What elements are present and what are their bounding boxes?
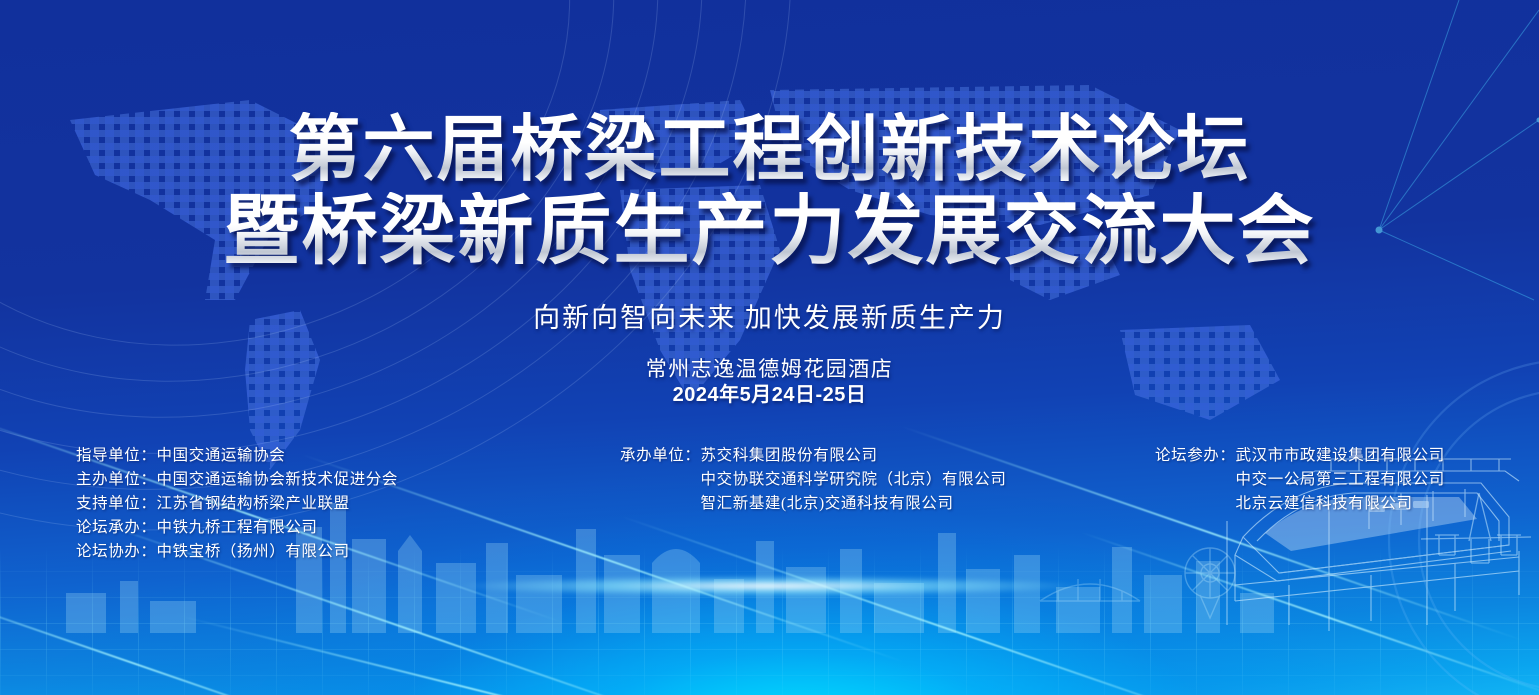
organizations-column-left: 指导单位： 中国交通运输协会 主办单位： 中国交通运输协会新技术促进分会 支持单… (76, 444, 398, 564)
title-line-1: 第六届桥梁工程创新技术论坛 (0, 112, 1539, 188)
banner-content: 第六届桥梁工程创新技术论坛 暨桥梁新质生产力发展交流大会 向新向智向未来 加快发… (0, 0, 1539, 695)
organization-label: 主办单位： (76, 468, 157, 492)
organization-value: 北京云建信科技有限公司 (1236, 492, 1413, 516)
organization-row: 论坛参办： 武汉市市政建设集团有限公司 (1155, 444, 1445, 468)
organization-label: 承办单位： (620, 444, 701, 468)
organization-row: 论坛参办： 中交一公局第三工程有限公司 (1155, 468, 1445, 492)
organization-value: 中交协联交通科学研究院（北京）有限公司 (701, 468, 1007, 492)
organization-row: 主办单位： 中国交通运输协会新技术促进分会 (76, 468, 398, 492)
main-title: 第六届桥梁工程创新技术论坛 暨桥梁新质生产力发展交流大会 (0, 112, 1539, 273)
organization-label: 论坛参办： (1155, 444, 1236, 468)
organization-value: 江苏省钢结构桥梁产业联盟 (157, 492, 350, 516)
organization-value: 中国交通运输协会新技术促进分会 (157, 468, 399, 492)
organization-value: 中铁宝桥（扬州）有限公司 (157, 540, 350, 564)
organization-value: 中国交通运输协会 (157, 444, 286, 468)
organization-label: 指导单位： (76, 444, 157, 468)
organization-label: 论坛承办： (76, 516, 157, 540)
organization-row: 指导单位： 中国交通运输协会 (76, 444, 398, 468)
organization-row: 承办单位： 中交协联交通科学研究院（北京）有限公司 (620, 468, 1006, 492)
title-line-2: 暨桥梁新质生产力发展交流大会 (0, 192, 1539, 273)
organizations-section: 指导单位： 中国交通运输协会 主办单位： 中国交通运输协会新技术促进分会 支持单… (0, 444, 1539, 574)
conference-banner: 第六届桥梁工程创新技术论坛 暨桥梁新质生产力发展交流大会 向新向智向未来 加快发… (0, 0, 1539, 695)
organization-label: 支持单位： (76, 492, 157, 516)
organization-value: 苏交科集团股份有限公司 (701, 444, 878, 468)
organization-row: 论坛参办： 北京云建信科技有限公司 (1155, 492, 1445, 516)
organization-value: 武汉市市政建设集团有限公司 (1236, 444, 1445, 468)
organization-row: 支持单位： 江苏省钢结构桥梁产业联盟 (76, 492, 398, 516)
organization-value: 中交一公局第三工程有限公司 (1236, 468, 1445, 492)
organization-value: 智汇新基建(北京)交通科技有限公司 (701, 492, 954, 516)
organizations-column-middle: 承办单位： 苏交科集团股份有限公司 承办单位： 中交协联交通科学研究院（北京）有… (620, 444, 1006, 516)
slogan: 向新向智向未来 加快发展新质生产力 (0, 296, 1539, 335)
organization-row: 承办单位： 智汇新基建(北京)交通科技有限公司 (620, 492, 1006, 516)
event-dates: 2024年5月24日-25日 (0, 378, 1539, 407)
organizations-column-right: 论坛参办： 武汉市市政建设集团有限公司 论坛参办： 中交一公局第三工程有限公司 … (1155, 444, 1445, 516)
organization-row: 论坛承办： 中铁九桥工程有限公司 (76, 516, 398, 540)
organization-value: 中铁九桥工程有限公司 (157, 516, 318, 540)
organization-row: 论坛协办： 中铁宝桥（扬州）有限公司 (76, 540, 398, 564)
organization-label: 论坛协办： (76, 540, 157, 564)
organization-row: 承办单位： 苏交科集团股份有限公司 (620, 444, 1006, 468)
